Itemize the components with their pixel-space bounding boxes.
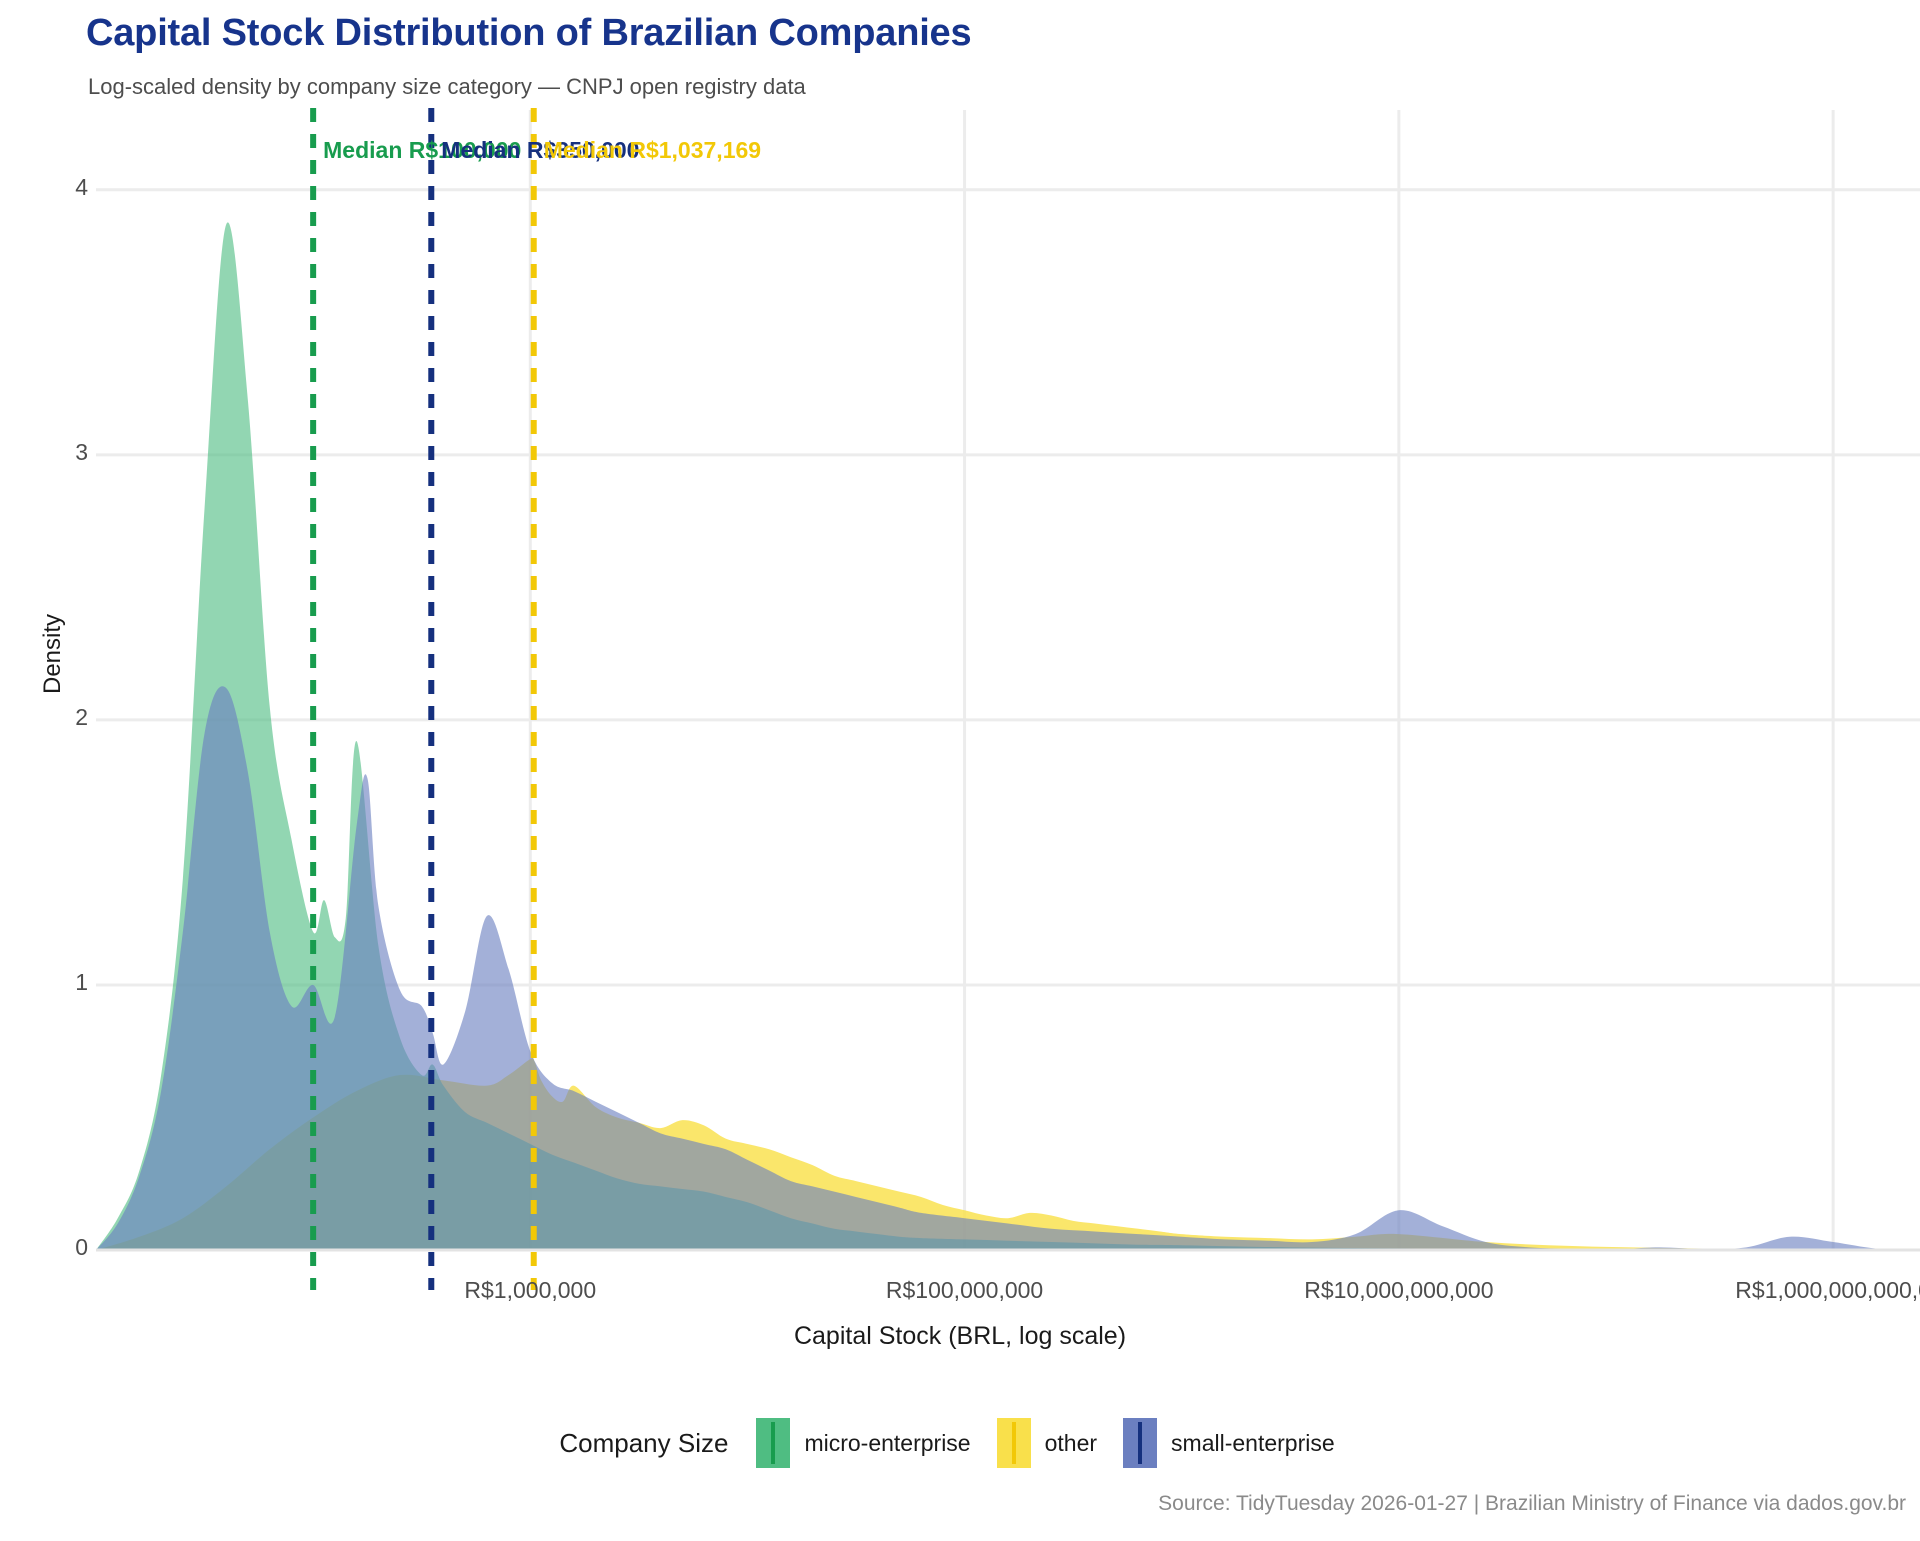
legend-swatch-small-enterprise bbox=[1123, 1418, 1157, 1468]
density-chart: 01234R$1,000,000R$100,000,000R$10,000,00… bbox=[0, 0, 1920, 1536]
legend-swatch-micro-enterprise bbox=[756, 1418, 790, 1468]
source-caption: Source: TidyTuesday 2026-01-27 | Brazili… bbox=[1158, 1492, 1906, 1516]
y-tick-label: 1 bbox=[28, 969, 88, 996]
median-annotation-2: Median R$1,037,169 bbox=[544, 137, 761, 164]
chart-legend: Company Size micro-enterprise other smal… bbox=[0, 1418, 1920, 1468]
chart-canvas bbox=[0, 0, 1920, 1536]
y-tick-label: 3 bbox=[28, 439, 88, 466]
x-tick-label: R$100,000,000 bbox=[805, 1277, 1125, 1304]
legend-label-small-enterprise: small-enterprise bbox=[1171, 1430, 1335, 1457]
x-tick-label: R$1,000,000,000,0 bbox=[1673, 1277, 1920, 1304]
legend-item-other[interactable]: other bbox=[997, 1418, 1097, 1468]
y-tick-label: 4 bbox=[28, 174, 88, 201]
legend-title: Company Size bbox=[559, 1428, 728, 1459]
legend-label-micro-enterprise: micro-enterprise bbox=[804, 1430, 970, 1457]
legend-swatch-other bbox=[997, 1418, 1031, 1468]
legend-label-other: other bbox=[1045, 1430, 1097, 1457]
y-axis-label: Density bbox=[39, 594, 67, 714]
density-area-small-enterprise bbox=[96, 686, 1920, 1250]
x-tick-label: R$1,000,000 bbox=[370, 1277, 690, 1304]
legend-item-small-enterprise[interactable]: small-enterprise bbox=[1123, 1418, 1335, 1468]
y-tick-label: 0 bbox=[28, 1234, 88, 1261]
x-tick-label: R$10,000,000,000 bbox=[1239, 1277, 1559, 1304]
x-axis-label: Capital Stock (BRL, log scale) bbox=[0, 1322, 1920, 1351]
legend-item-micro-enterprise[interactable]: micro-enterprise bbox=[756, 1418, 970, 1468]
